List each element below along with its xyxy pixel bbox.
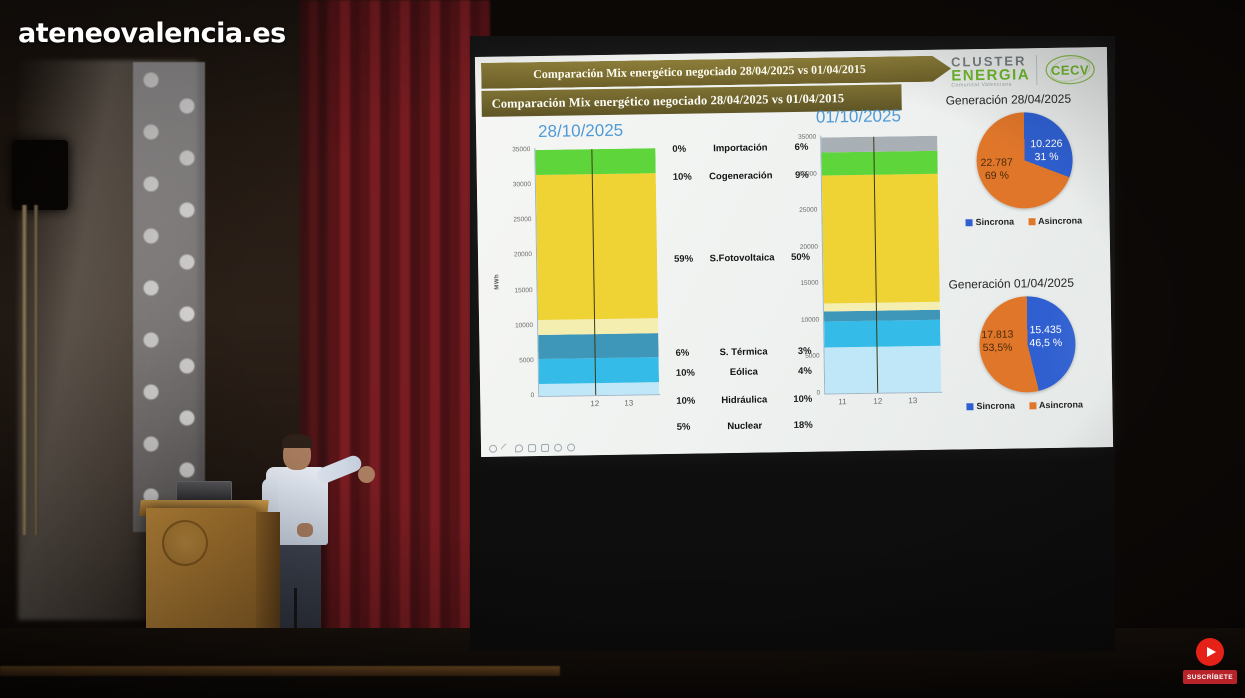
xtick-label: 11: [838, 397, 846, 406]
pointer-icon[interactable]: [515, 444, 523, 452]
ytick-label: 30000: [495, 181, 531, 189]
chart-left-areas: [535, 148, 659, 396]
ytick-label: 20000: [496, 252, 532, 260]
mix-left-pct: 5%: [677, 421, 701, 432]
pie-1-slice-asincrona-label: 22.787 69 %: [981, 157, 1014, 184]
mix-source-name: Nuclear: [701, 420, 789, 432]
mix-source-name: S. Térmica: [699, 346, 787, 358]
pie-1-legend-asincrona: Asincrona: [1028, 215, 1082, 226]
ytick-label: 5000: [780, 353, 820, 361]
mix-source-name: Hidráulica: [700, 394, 788, 406]
area-band-hidr-ulica: [824, 320, 940, 347]
chart-right-title: 01/10/2025: [816, 106, 901, 127]
pie-1-title: Generación 28/04/2025: [946, 92, 1072, 108]
slide-grid-icon[interactable]: [528, 444, 536, 452]
pie-chart-generacion-28[interactable]: Generación 28/04/2025 10.226 31 % 22.787…: [934, 91, 1105, 264]
mix-source-name: Eólica: [700, 366, 788, 378]
mix-left-pct: 10%: [676, 367, 700, 378]
stand-pole: [22, 205, 27, 535]
pen-icon[interactable]: [489, 445, 497, 453]
ytick-label: 35000: [776, 134, 816, 142]
area-band-s-fotovoltaica: [536, 173, 658, 320]
area-band-s--t-rmica: [538, 318, 658, 335]
ytick-label: 10000: [779, 316, 819, 324]
channel-watermark: ateneovalencia.es: [18, 18, 286, 49]
area-band-cogeneraci-n: [821, 151, 937, 176]
presentation-slide[interactable]: Comparación Mix energético negociado 28/…: [475, 47, 1113, 457]
xtick-label: 12: [873, 397, 882, 406]
youtube-subscribe-badge[interactable]: SUSCRÍBETE: [1181, 632, 1239, 692]
xtick-label: 13: [908, 396, 917, 405]
mix-left-pct: 10%: [676, 395, 700, 406]
timer-icon[interactable]: [567, 443, 575, 451]
presenter-left-hand: [358, 466, 375, 483]
cecv-badge-icon: CECV: [1043, 52, 1098, 87]
mix-source-name: Cogeneración: [697, 170, 785, 182]
podium-crest-icon: [162, 520, 208, 566]
area-band-e-lica: [538, 333, 658, 359]
subscribe-button[interactable]: SUSCRÍBETE: [1183, 670, 1237, 684]
area-band-importaci-n: [821, 136, 937, 153]
logo-line-energia: ENERGIA: [951, 67, 1030, 83]
area-chart-right[interactable]: 01/10/2025 05000100001500020000250003000…: [776, 106, 943, 429]
decorative-lace-panel: [133, 62, 205, 532]
pie-1-legend: Sincrona Asincrona: [965, 215, 1082, 227]
ytick-label: 15000: [778, 280, 818, 288]
area-band-s-fotovoltaica: [822, 174, 940, 304]
mix-left-pct: 0%: [672, 144, 696, 155]
presenter-right-hand: [297, 523, 313, 537]
mix-source-name: S.Fotovoltaica: [698, 252, 786, 264]
pie-2-legend-asincrona: Asincrona: [1029, 399, 1083, 410]
mix-left-pct: 6%: [675, 347, 699, 358]
logo-divider: [1036, 55, 1037, 85]
ytick-label: 5000: [498, 357, 534, 365]
pie-1-legend-sincrona: Sincrona: [965, 217, 1014, 228]
area-band-nuclear: [539, 382, 659, 396]
area-band-nuclear: [825, 346, 942, 394]
xtick-label: 12: [590, 399, 599, 408]
ytick-label: 30000: [777, 170, 817, 178]
presenter-hair: [282, 434, 312, 448]
pie-2-title: Generación 01/04/2025: [948, 276, 1074, 292]
ytick-label: 10000: [497, 322, 533, 330]
ytick-label: 35000: [494, 146, 530, 154]
menu-icon[interactable]: [541, 444, 549, 452]
mix-left-pct: 10%: [673, 172, 697, 183]
area-band-cogeneraci-n: [535, 148, 655, 174]
stage-curtain: [330, 0, 490, 698]
xtick-label: 13: [624, 399, 633, 408]
mix-source-name: Importación: [696, 142, 784, 154]
stage-edge: [0, 666, 560, 676]
pie-2-slice-asincrona-label: 17.813 53,5%: [981, 329, 1014, 356]
presentation-toolbar[interactable]: [489, 443, 575, 452]
pie-2-legend: Sincrona Asincrona: [966, 399, 1083, 411]
chart-left-title: 28/10/2025: [538, 121, 623, 142]
ytick-label: 25000: [777, 207, 817, 215]
cecv-label: CECV: [1051, 62, 1089, 78]
pie-2-slice-sincrona-label: 15.435 46,5 %: [1029, 324, 1062, 351]
chart-right-areas: [821, 136, 941, 394]
ytick-label: 0: [780, 390, 820, 398]
pie-2-legend-sincrona: Sincrona: [966, 401, 1015, 412]
area-chart-left[interactable]: 28/10/2025 MWh 0500010000150002000025000…: [494, 122, 665, 435]
pie-1-slice-sincrona-label: 10.226 31 %: [1030, 138, 1063, 165]
stage-speaker-box: [12, 140, 68, 210]
cluster-energia-logo: CLUSTER ENERGIA Comunitat Valenciana CEC…: [951, 49, 1100, 91]
area-band-e-lica: [824, 310, 940, 322]
pie-chart-generacion-01[interactable]: Generación 01/04/2025 15.435 46,5 % 17.8…: [936, 275, 1107, 450]
ytick-label: 20000: [778, 243, 818, 251]
ytick-label: 25000: [495, 216, 531, 224]
area-band-hidr-ulica: [539, 357, 659, 383]
ytick-label: 0: [498, 392, 534, 400]
youtube-play-icon[interactable]: [1196, 638, 1224, 666]
stand-pole-secondary: [34, 205, 38, 535]
video-frame: Comparación Mix energético negociado 28/…: [0, 0, 1245, 698]
mix-left-pct: 59%: [674, 254, 698, 265]
settings-icon[interactable]: [554, 444, 562, 452]
ytick-label: 15000: [497, 287, 533, 295]
